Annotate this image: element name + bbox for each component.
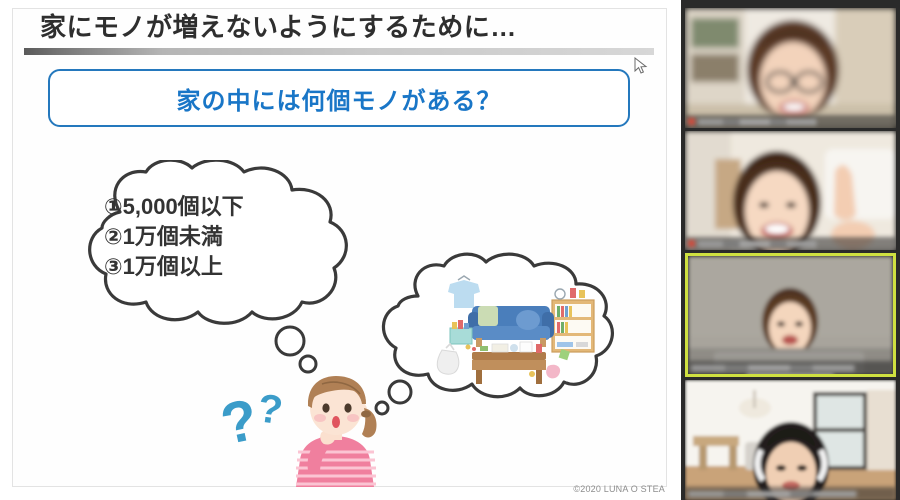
screen-share-window: 家にモノが増えないようにするために… 家の中には何個モノがある？ ①5,000個… bbox=[0, 0, 900, 500]
answers-thought-bubble: ①5,000個以下 ②1万個未満 ③1万個以上 bbox=[58, 160, 388, 335]
video-tile-4-namebar bbox=[685, 487, 896, 500]
mute-icon bbox=[688, 240, 695, 247]
answer-options-list: ①5,000個以下 ②1万個未満 ③1万個以上 bbox=[104, 192, 354, 282]
answer-option-3: ③1万個以上 bbox=[104, 252, 354, 281]
video-tile-4[interactable] bbox=[685, 380, 896, 500]
video-tile-2[interactable] bbox=[685, 131, 896, 250]
participant-video-panel bbox=[681, 0, 900, 500]
thinking-woman-illustration bbox=[278, 374, 390, 487]
video-tile-2-feed bbox=[685, 131, 896, 250]
video-tile-1[interactable] bbox=[685, 8, 896, 128]
video-tile-2-namebar bbox=[685, 237, 896, 250]
video-tile-3[interactable] bbox=[685, 253, 896, 377]
copyright-text: ©2020 LUNA O STEA bbox=[573, 484, 665, 494]
page-title: 家にモノが増えないようにするために… bbox=[40, 8, 640, 46]
video-tile-3-namebar bbox=[688, 361, 893, 374]
answer-option-2: ②1万個未満 bbox=[104, 222, 354, 251]
participant-name-label bbox=[691, 365, 881, 371]
subtitle-text: 家の中には何個モノがある？ bbox=[50, 71, 628, 125]
title-divider bbox=[24, 48, 654, 55]
video-tile-3-feed bbox=[688, 256, 893, 374]
video-tile-1-namebar bbox=[685, 115, 896, 128]
shared-slide: 家にモノが増えないようにするために… 家の中には何個モノがある？ ①5,000個… bbox=[0, 0, 681, 500]
participant-name-label bbox=[698, 119, 836, 125]
answer-option-1: ①5,000個以下 bbox=[104, 192, 354, 221]
video-tile-1-feed bbox=[685, 8, 896, 128]
video-tile-4-feed bbox=[685, 380, 896, 500]
subtitle-box: 家の中には何個モノがある？ bbox=[48, 69, 630, 127]
mute-icon bbox=[688, 118, 695, 125]
participant-name-label bbox=[698, 241, 836, 247]
participant-name-label bbox=[688, 491, 884, 497]
